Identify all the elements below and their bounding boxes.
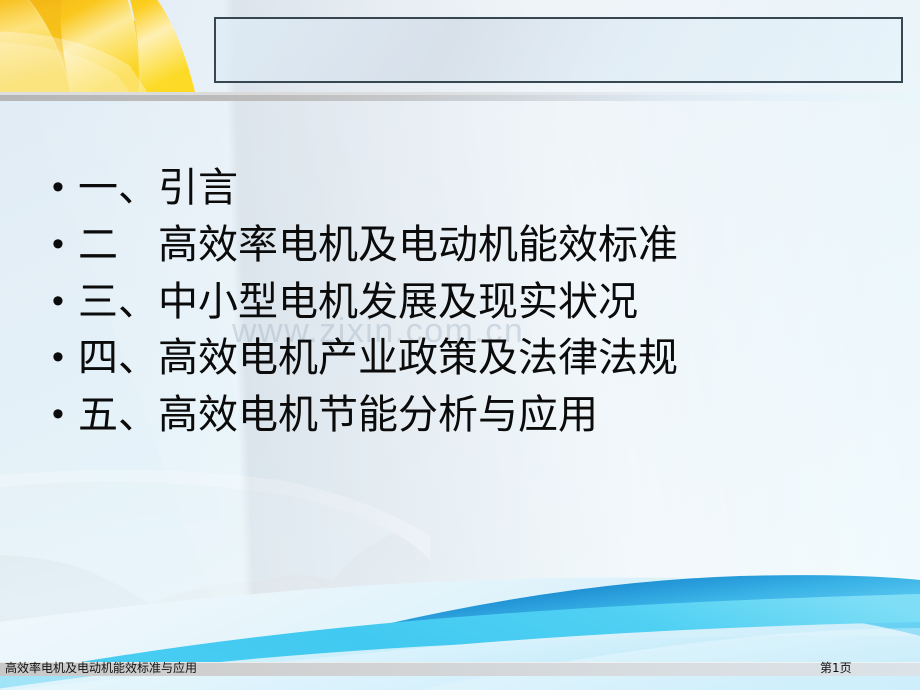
header-divider-highlight: [0, 92, 920, 95]
list-item-label: 三、中小型电机发展及现实状况: [78, 274, 872, 331]
bullet-dot-icon: •: [52, 330, 78, 385]
list-item[interactable]: • 二 高效率电机及电动机能效标准: [52, 217, 872, 274]
bullet-dot-icon: •: [52, 274, 78, 329]
list-item-label: 二 高效率电机及电动机能效标准: [78, 217, 872, 274]
handshake-photo: [0, 470, 430, 675]
list-item[interactable]: • 五、高效电机节能分析与应用: [52, 387, 872, 444]
bullet-dot-icon: •: [52, 160, 78, 215]
slide-title-box[interactable]: [214, 17, 903, 83]
bullet-dot-icon: •: [52, 217, 78, 272]
list-item-label: 一、引言: [78, 160, 872, 217]
yellow-fan-decoration: [0, 0, 240, 96]
list-item[interactable]: • 四、高效电机产业政策及法律法规: [52, 330, 872, 387]
slide-bullet-list: • 一、引言 • 二 高效率电机及电动机能效标准 • 三、中小型电机发展及现实状…: [52, 160, 872, 444]
bullet-dot-icon: •: [52, 387, 78, 442]
list-item[interactable]: • 三、中小型电机发展及现实状况: [52, 274, 872, 331]
list-item[interactable]: • 一、引言: [52, 160, 872, 217]
footer-title: 高效率电机及电动机能效标准与应用: [5, 661, 197, 676]
list-item-label: 五、高效电机节能分析与应用: [78, 387, 872, 444]
slide-canvas: www.zixin.com.cn • 一、引言 • 二 高效率电机及电动机能效标…: [0, 0, 920, 690]
page-number: 第1页: [820, 661, 852, 676]
list-item-label: 四、高效电机产业政策及法律法规: [78, 330, 872, 387]
